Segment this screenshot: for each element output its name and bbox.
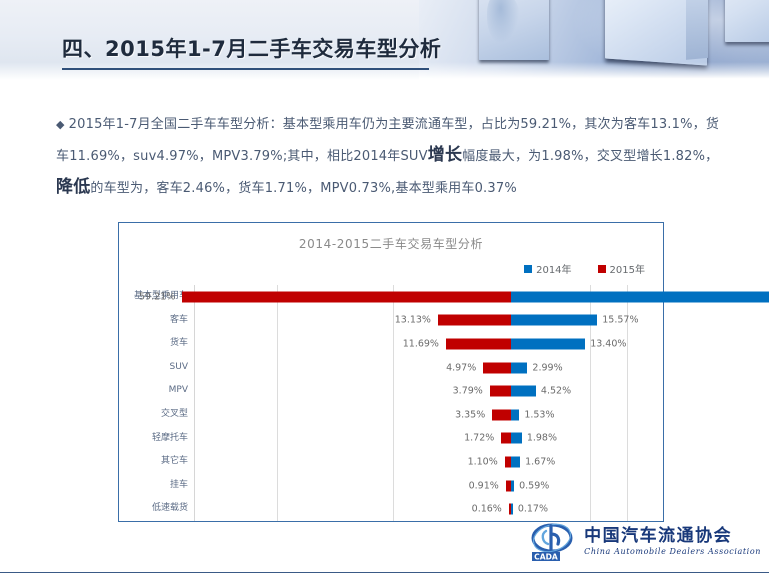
chart-title: 2014-2015二手车交易车型分析 [119,235,663,252]
cada-name-cn: 中国汽车流通协会 [584,528,761,545]
bar-2015[interactable] [446,338,511,349]
cube-graphic-1 [479,0,549,60]
category-label: SUV [170,356,188,380]
bar-value-label-2015: 13.13% [395,315,431,326]
page-title: 四、2015年1-7月二手车交易车型分析 [62,33,441,63]
chart-row[interactable]: 3.35%1.53% [195,403,663,427]
category-label: 轻摩托车 [152,427,188,451]
legend-item-2015[interactable]: 2015年 [598,261,645,276]
bar-value-label-2014: 1.53% [524,409,554,420]
bar-2015[interactable] [438,315,511,326]
bar-value-label-2014: 13.40% [590,338,626,349]
bar-2014[interactable] [511,480,514,491]
category-axis: 基本型乘用车客车货车SUVMPV交叉型轻摩托车其它车挂车低速载货 [119,285,195,521]
footer-rule [0,572,769,573]
chart-row[interactable]: 13.13%15.57% [195,309,663,333]
legend-label-2014: 2014年 [536,261,571,276]
cada-emblem-icon: CADA [530,522,578,562]
bar-value-label-2015: 0.16% [472,504,502,515]
bar-2014[interactable] [511,386,536,397]
body-segment-4: 的车型为，客车2.46%，货车1.71%，MPV0.73%,基本型乘用车0.37… [90,181,516,196]
bar-value-label-2014: 4.52% [541,386,571,397]
category-label: 其它车 [161,450,188,474]
body-segment-3: 降低 [56,177,90,197]
cada-logo-text: 中国汽车流通协会 China Automobile Dealers Associ… [584,528,761,556]
chart-row[interactable]: 0.91%0.59% [195,474,663,498]
body-segment-1: 增长 [428,145,462,165]
bar-2014[interactable] [511,456,520,467]
bar-2015[interactable] [501,433,511,444]
chart-legend: 2014年 2015年 [524,261,645,276]
category-label: 挂车 [170,474,188,498]
chart-row[interactable]: 3.79%4.52% [195,379,663,403]
bar-2015[interactable] [492,409,511,420]
bar-value-label-2015: 1.10% [468,456,498,467]
legend-swatch-2015 [598,265,606,273]
bar-2014[interactable] [511,409,519,420]
legend-label-2015: 2015年 [610,261,645,276]
chart-row[interactable]: 1.72%1.98% [195,427,663,451]
chart-container: 2014-2015二手车交易车型分析 2014年 2015年 基本型乘用车客车货… [118,222,664,522]
bar-2014[interactable] [511,291,769,302]
header-fade-overlay [419,62,769,80]
svg-text:CADA: CADA [534,552,558,561]
bar-value-label-2015: 4.97% [446,362,476,373]
bar-value-label-2014: 1.98% [527,433,557,444]
cada-name-en: China Automobile Dealers Association [584,548,761,556]
bar-value-label-2015: 3.79% [453,386,483,397]
category-label: 货车 [170,332,188,356]
bar-2014[interactable] [511,315,597,326]
chart-row[interactable]: 1.10%1.67% [195,450,663,474]
chart-row[interactable]: 11.69%13.40% [195,332,663,356]
bar-value-label-2015: 1.72% [464,433,494,444]
bar-value-label-2014: 0.59% [519,480,549,491]
header-decorative-artwork [419,0,769,80]
cube-graphic-3 [725,0,769,42]
legend-item-2014[interactable]: 2014年 [524,261,571,276]
category-label: MPV [169,379,188,403]
title-underline-rule [62,68,429,70]
legend-swatch-2014 [524,265,532,273]
chart-plot: 基本型乘用车客车货车SUVMPV交叉型轻摩托车其它车挂车低速载货 59.21%5… [119,285,663,521]
category-label: 交叉型 [161,403,188,427]
plot-area: 59.21%57.58%13.13%15.57%11.69%13.40%4.97… [195,285,663,521]
cada-logo: CADA 中国汽车流通协会 China Automobile Dealers A… [530,522,761,562]
bar-2014[interactable] [511,433,522,444]
bar-2015[interactable] [483,362,511,373]
bar-value-label-2015: 0.91% [469,480,499,491]
bar-2014[interactable] [511,338,585,349]
bar-value-label-2015: 3.35% [455,409,485,420]
cube-graphic-2 [605,0,707,66]
body-segment-2: 幅度最大，为1.98%，交叉型增长1.82%， [462,149,718,164]
body-paragraph-text: 2015年1-7月全国二手车车型分析：基本型乘用车仍为主要流通车型，占比为59.… [56,117,719,196]
bar-2015[interactable] [490,386,511,397]
chart-row[interactable]: 59.21%57.58% [195,285,663,309]
bar-value-label-2015: 59.21% [139,291,175,302]
bar-value-label-2014: 1.67% [525,456,555,467]
bar-2015[interactable] [182,291,511,302]
bar-value-label-2015: 11.69% [403,338,439,349]
bar-value-label-2014: 15.57% [602,315,638,326]
bar-value-label-2014: 0.17% [518,504,548,515]
bar-2014[interactable] [511,504,513,515]
bar-2014[interactable] [511,362,528,373]
category-label: 低速载货 [152,497,188,521]
category-label: 客车 [170,309,188,333]
chart-row[interactable]: 0.16%0.17% [195,497,663,521]
chart-row[interactable]: 4.97%2.99% [195,356,663,380]
bar-value-label-2014: 2.99% [532,362,562,373]
diamond-bullet-icon: ◆ [56,118,65,131]
body-paragraph: ◆2015年1-7月全国二手车车型分析：基本型乘用车仍为主要流通车型，占比为59… [56,110,728,204]
